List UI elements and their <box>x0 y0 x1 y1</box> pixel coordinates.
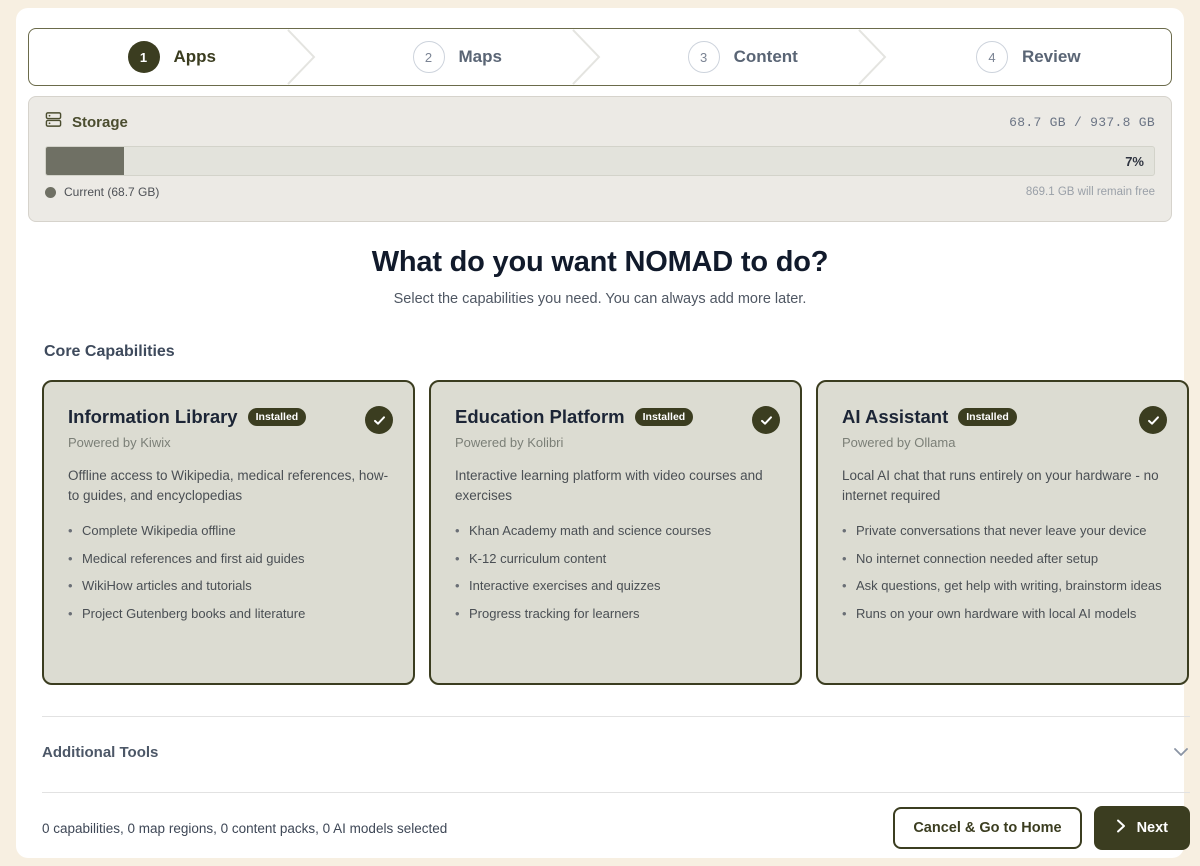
list-item: Khan Academy math and science courses <box>455 522 778 541</box>
step-4-label: Review <box>1022 47 1081 67</box>
storage-remaining-text: 869.1 GB will remain free <box>1026 186 1155 198</box>
installed-badge: Installed <box>635 408 694 426</box>
footer-actions: Cancel & Go to Home Next <box>893 806 1190 850</box>
step-separator-icon <box>571 29 601 85</box>
list-item: K-12 curriculum content <box>455 550 778 569</box>
divider-above-additional-tools <box>42 716 1190 717</box>
card-title: AI Assistant <box>842 406 948 428</box>
card-title: Information Library <box>68 406 238 428</box>
list-item: Progress tracking for learners <box>455 605 778 624</box>
list-item: No internet connection needed after setu… <box>842 550 1165 569</box>
storage-usage-text: 68.7 GB / 937.8 GB <box>1009 115 1155 130</box>
card-description: Local AI chat that runs entirely on your… <box>842 466 1165 506</box>
installed-badge: Installed <box>248 408 307 426</box>
card-title: Education Platform <box>455 406 625 428</box>
selection-summary: 0 capabilities, 0 map regions, 0 content… <box>42 821 447 836</box>
list-item: Medical references and first aid guides <box>68 550 391 569</box>
storage-legend: Current (68.7 GB) <box>45 185 159 199</box>
storage-progress-bar: 7% <box>45 146 1155 176</box>
capability-card-information-library[interactable]: Information Library Installed Powered by… <box>42 380 415 685</box>
step-2-label: Maps <box>459 47 502 67</box>
additional-tools-section[interactable]: Additional Tools <box>42 730 1190 774</box>
step-2-number: 2 <box>413 41 445 73</box>
step-2-maps[interactable]: 2 Maps <box>315 29 601 85</box>
legend-color-swatch <box>45 187 56 198</box>
step-1-number: 1 <box>128 41 160 73</box>
step-4-review[interactable]: 4 Review <box>886 29 1172 85</box>
step-4-number: 4 <box>976 41 1008 73</box>
capability-card-education-platform[interactable]: Education Platform Installed Powered by … <box>429 380 802 685</box>
step-3-number: 3 <box>688 41 720 73</box>
legend-label: Current (68.7 GB) <box>64 185 159 199</box>
card-header: Education Platform Installed <box>455 406 778 428</box>
additional-tools-label: Additional Tools <box>42 744 158 761</box>
list-item: Complete Wikipedia offline <box>68 522 391 541</box>
chevron-down-icon[interactable] <box>1172 743 1190 761</box>
step-separator-icon <box>857 29 887 85</box>
storage-panel: Storage 68.7 GB / 937.8 GB 7% Current (6… <box>28 96 1172 222</box>
list-item: Interactive exercises and quizzes <box>455 577 778 596</box>
core-capabilities-heading: Core Capabilities <box>44 343 175 361</box>
step-3-label: Content <box>734 47 798 67</box>
card-powered-by: Powered by Kolibri <box>455 435 778 450</box>
step-1-label: Apps <box>174 47 217 67</box>
capability-card-list: Information Library Installed Powered by… <box>42 380 1190 685</box>
server-icon <box>45 111 62 133</box>
step-separator-icon <box>286 29 316 85</box>
storage-progress-fill <box>46 147 124 175</box>
wizard-page: 1 Apps 2 Maps 3 Content 4 Review <box>16 8 1184 858</box>
storage-footer: Current (68.7 GB) 869.1 GB will remain f… <box>45 185 1155 199</box>
page-title: What do you want NOMAD to do? <box>16 246 1184 279</box>
card-header: Information Library Installed <box>68 406 391 428</box>
wizard-stepper: 1 Apps 2 Maps 3 Content 4 Review <box>28 28 1172 86</box>
card-feature-list: Complete Wikipedia offline Medical refer… <box>68 522 391 624</box>
installed-badge: Installed <box>958 408 1017 426</box>
step-3-content[interactable]: 3 Content <box>600 29 886 85</box>
list-item: WikiHow articles and tutorials <box>68 577 391 596</box>
headline-block: What do you want NOMAD to do? Select the… <box>16 246 1184 307</box>
page-subtitle: Select the capabilities you need. You ca… <box>16 291 1184 307</box>
storage-percent-label: 7% <box>1125 147 1144 175</box>
storage-label: Storage <box>72 114 128 131</box>
chevron-right-icon <box>1116 819 1127 837</box>
list-item: Project Gutenberg books and literature <box>68 605 391 624</box>
card-powered-by: Powered by Ollama <box>842 435 1165 450</box>
card-powered-by: Powered by Kiwix <box>68 435 391 450</box>
capability-card-ai-assistant[interactable]: AI Assistant Installed Powered by Ollama… <box>816 380 1189 685</box>
card-feature-list: Private conversations that never leave y… <box>842 522 1165 624</box>
card-description: Interactive learning platform with video… <box>455 466 778 506</box>
storage-header: Storage 68.7 GB / 937.8 GB <box>45 111 1155 133</box>
divider-above-footer <box>42 792 1190 793</box>
storage-title-group: Storage <box>45 111 128 133</box>
check-circle-icon[interactable] <box>752 406 780 434</box>
list-item: Ask questions, get help with writing, br… <box>842 577 1165 596</box>
card-description: Offline access to Wikipedia, medical ref… <box>68 466 391 506</box>
card-feature-list: Khan Academy math and science courses K-… <box>455 522 778 624</box>
check-circle-icon[interactable] <box>365 406 393 434</box>
wizard-footer: 0 capabilities, 0 map regions, 0 content… <box>42 806 1190 850</box>
step-1-apps[interactable]: 1 Apps <box>29 29 315 85</box>
next-button[interactable]: Next <box>1094 806 1190 850</box>
next-button-label: Next <box>1137 820 1168 836</box>
card-header: AI Assistant Installed <box>842 406 1165 428</box>
check-circle-icon[interactable] <box>1139 406 1167 434</box>
cancel-button[interactable]: Cancel & Go to Home <box>893 807 1081 849</box>
list-item: Private conversations that never leave y… <box>842 522 1165 541</box>
list-item: Runs on your own hardware with local AI … <box>842 605 1165 624</box>
